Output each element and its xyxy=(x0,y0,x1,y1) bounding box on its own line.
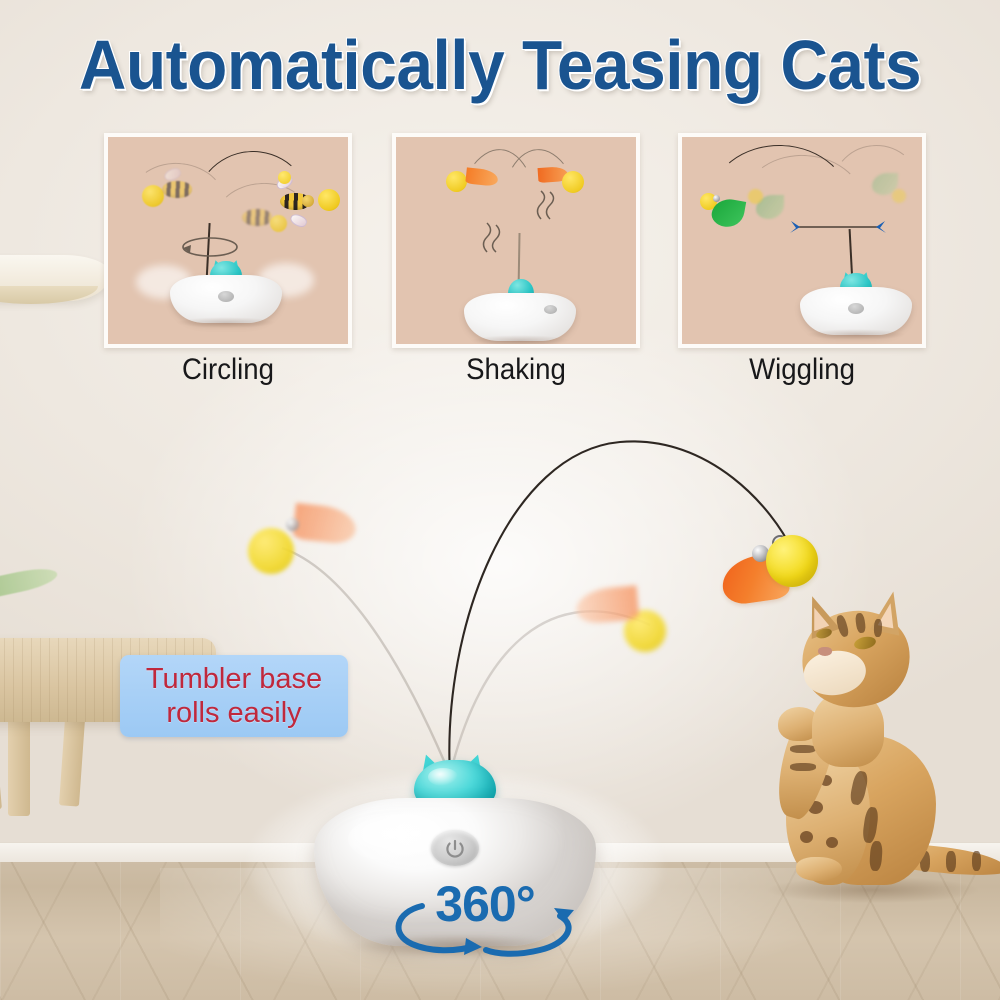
pompom-ball xyxy=(318,189,340,211)
bee-toy-ghost xyxy=(242,209,272,226)
product-mini-illustration xyxy=(464,279,576,341)
product-mini-illustration xyxy=(170,261,282,323)
double-arrow-icon xyxy=(790,215,886,235)
wavy-motion-lines-icon xyxy=(536,189,558,221)
callout-line-1: Tumbler base xyxy=(146,662,322,696)
pompom-ball-ghost xyxy=(248,528,294,574)
rotation-arrow-icon xyxy=(178,233,242,261)
cat-front-paw xyxy=(796,857,842,881)
cat-head-stripe xyxy=(874,619,883,637)
feature-label-shaking: Shaking xyxy=(402,352,630,388)
power-button xyxy=(848,303,864,314)
pompom-ball xyxy=(446,171,467,192)
pompom-ball-ghost xyxy=(892,189,906,203)
device-shadow xyxy=(470,335,570,346)
tumbler-body xyxy=(464,293,576,341)
cat-leg-stripe xyxy=(790,763,816,771)
badge-360-rotation: 360° xyxy=(382,878,586,962)
pompom-ball xyxy=(766,535,818,587)
panel-illustration-wiggling xyxy=(682,137,922,344)
page-title: Automatically Teasing Cats xyxy=(30,26,970,104)
power-icon xyxy=(444,838,466,860)
bench-leg xyxy=(8,718,30,816)
panel-illustration-circling xyxy=(108,137,348,344)
bell-icon-ghost xyxy=(286,518,299,531)
power-button xyxy=(544,305,557,314)
pompom-ball xyxy=(270,215,287,232)
callout-line-2: rolls easily xyxy=(166,696,301,730)
bee-toy-ghost xyxy=(162,181,192,198)
pompom-ball-small xyxy=(278,171,291,184)
cat-spot xyxy=(826,837,838,848)
cat-leg-stripe xyxy=(790,745,816,753)
cap-highlight xyxy=(428,768,458,786)
panel-illustration-shaking xyxy=(396,137,636,344)
feature-panel-circling xyxy=(104,133,352,348)
badge-360-text: 360° xyxy=(410,876,560,932)
feature-label-wiggling: Wiggling xyxy=(688,352,916,388)
bee-head xyxy=(302,195,314,207)
device-shadow xyxy=(806,329,906,340)
pompom-ball-ghost xyxy=(748,189,763,204)
pompom-ball xyxy=(142,185,164,207)
power-button xyxy=(218,291,234,302)
cat-spot xyxy=(800,831,813,843)
product-mini-illustration xyxy=(800,273,912,335)
bengal-cat xyxy=(760,585,1000,915)
wavy-motion-lines-icon xyxy=(482,221,504,255)
feature-label-circling: Circling xyxy=(114,352,342,388)
pompom-ball xyxy=(562,171,584,193)
cat-tail-stripe xyxy=(972,851,981,871)
feature-panel-shaking xyxy=(392,133,640,348)
cat-tail-stripe xyxy=(946,851,956,872)
callout-tumbler-base: Tumbler base rolls easily xyxy=(120,655,348,737)
cat-nose xyxy=(818,647,832,656)
device-shadow xyxy=(176,317,276,328)
power-button[interactable] xyxy=(431,830,479,866)
feature-panel-wiggling xyxy=(678,133,926,348)
